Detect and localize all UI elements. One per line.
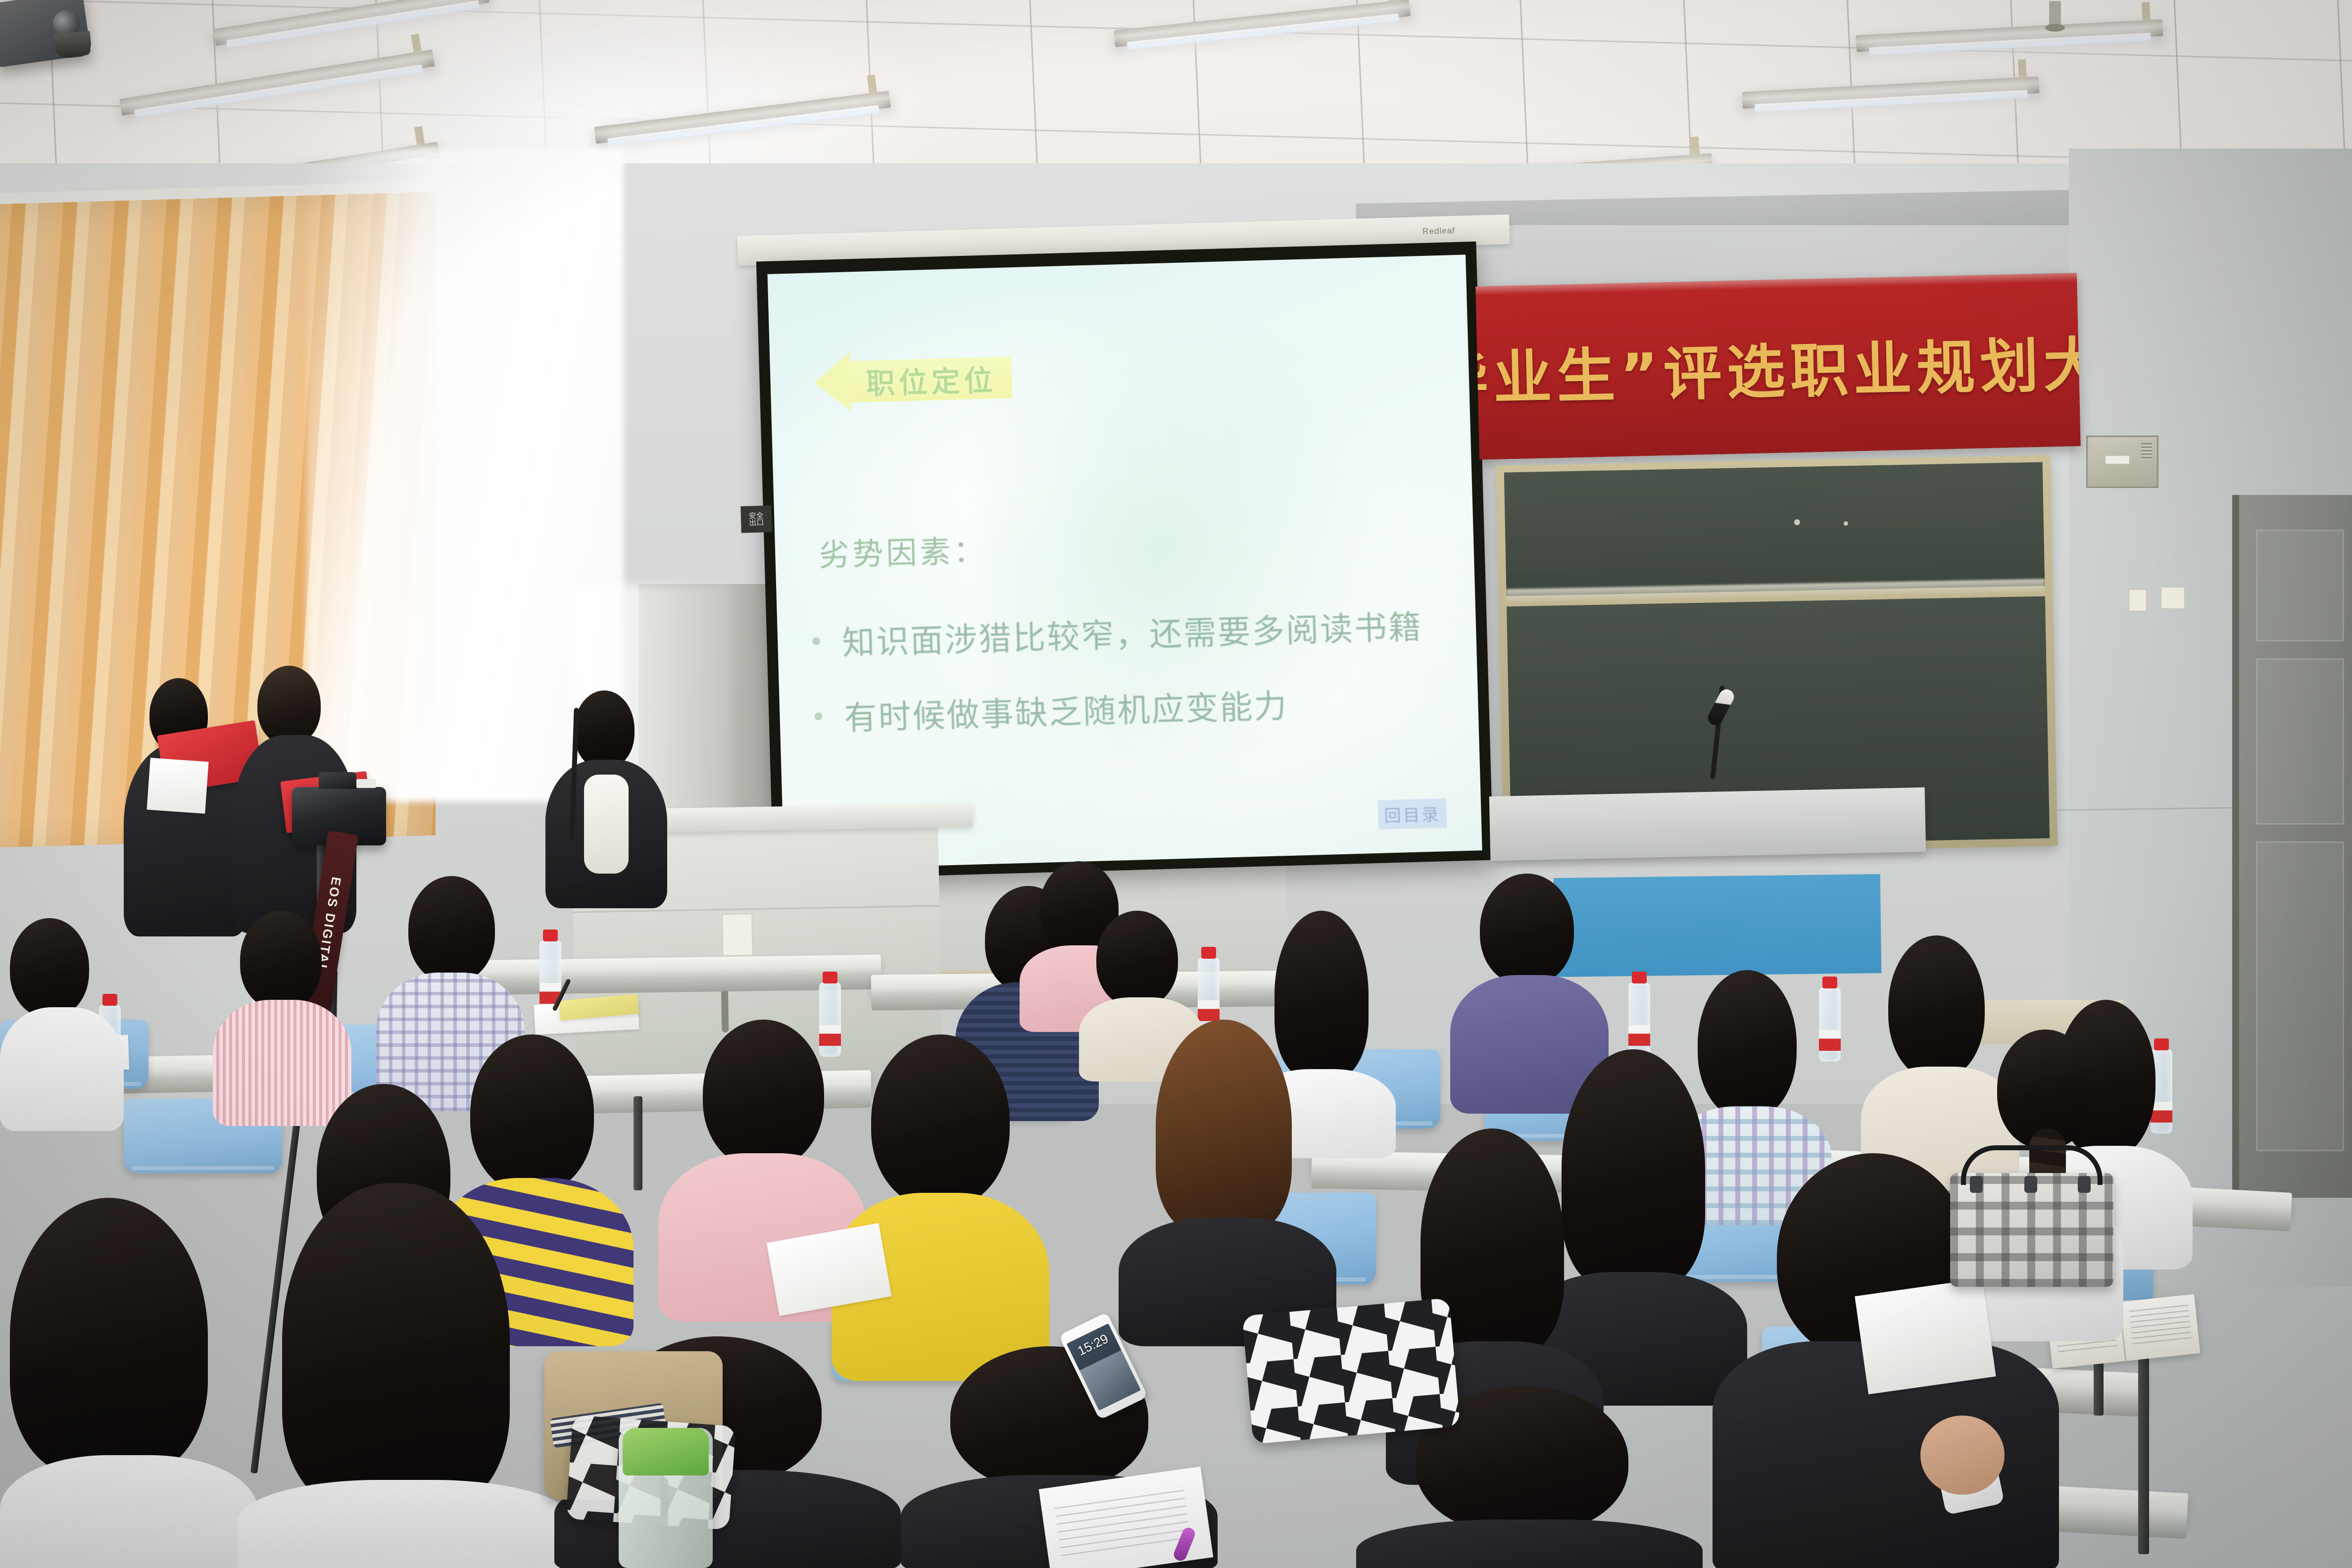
water-bottle[interactable] — [1628, 982, 1650, 1057]
geometric-backpack[interactable] — [1242, 1298, 1460, 1444]
door-panel — [2256, 658, 2344, 825]
slide-watermark-graphic — [979, 316, 1425, 828]
person-head — [871, 1034, 1010, 1208]
wall-outlet[interactable] — [2160, 587, 2185, 609]
person-head — [257, 666, 321, 745]
rear-exit-door[interactable] — [2232, 495, 2352, 1198]
slide-back-to-contents-button[interactable]: 回目录 — [1378, 798, 1447, 830]
plaid-handbag[interactable] — [1950, 1173, 2113, 1287]
projection-screen-frame: 职位定位 劣势因素： 知识面涉猎比较窄，还需要多阅读书籍 有时候做事缺乏随机应变… — [756, 242, 1493, 880]
person-torso — [0, 1455, 257, 1568]
person-head — [574, 690, 635, 769]
audience-member — [0, 918, 124, 1126]
audience-member — [1119, 1020, 1336, 1336]
notebook-lines — [1054, 1489, 1190, 1556]
stage-ledge — [1489, 787, 1926, 861]
event-banner-text: 佳毕业生”评选职业规划大赛 — [1475, 315, 2081, 418]
exit-sign-text: 安全出口 — [749, 512, 764, 526]
exit-sign-plaque: 安全出口 — [740, 505, 772, 533]
door-panel — [2256, 530, 2344, 641]
bottle-straw — [660, 1477, 668, 1552]
slide-lead-text: 劣势因素： — [818, 526, 987, 575]
book-text-lines — [2129, 1304, 2192, 1344]
slide-bullet-text: 知识面涉猎比较窄，还需要多阅读书籍 — [841, 600, 1423, 664]
person-head — [1156, 1020, 1292, 1232]
bullet-dot-icon — [812, 637, 820, 645]
host-script-paper — [147, 758, 208, 814]
camera-flash-icon — [356, 779, 376, 788]
person-head — [240, 911, 322, 1010]
electrical-box-label — [2106, 456, 2129, 464]
person-head — [10, 918, 89, 1017]
person-head — [282, 1183, 510, 1510]
blackboard-upper-panel — [1504, 462, 2045, 596]
green-sports-bottle[interactable] — [619, 1428, 713, 1568]
bottle-cap-icon — [623, 1428, 709, 1475]
bag-clasp-icon — [1970, 1176, 1983, 1193]
person-head — [703, 1020, 824, 1168]
audience-member — [238, 1183, 574, 1568]
slide-tag-body: 职位定位 — [850, 356, 1013, 402]
person-head — [1888, 935, 1985, 1079]
door-panel — [2256, 841, 2344, 1151]
arrow-left-icon — [813, 352, 851, 412]
light-switch[interactable] — [722, 913, 753, 956]
desk-paper — [1855, 1278, 1996, 1394]
person-torso — [1356, 1519, 1703, 1568]
slide-tag-label: 职位定位 — [865, 357, 997, 402]
presenter — [544, 690, 668, 903]
person-hand — [1920, 1416, 2005, 1495]
person-head — [10, 1198, 208, 1475]
camera-viewfinder-hump — [319, 772, 356, 789]
electrical-box — [2086, 436, 2158, 488]
audience-member — [832, 1034, 1049, 1371]
person-head — [408, 876, 495, 982]
person-torso — [0, 1007, 124, 1131]
bag-clasp-icon — [2024, 1176, 2037, 1193]
sprinkler-head-icon — [2049, 1, 2061, 28]
desk-leg — [634, 1096, 642, 1190]
bag-clasp-icon — [2078, 1176, 2091, 1193]
vent-icon — [2141, 443, 2152, 460]
presenter-inner-top — [584, 775, 629, 874]
slide-bullet-list: 知识面涉猎比较窄，还需要多阅读书籍 有时候做事缺乏随机应变能力 — [811, 572, 1459, 740]
screen-brand-label: Redleaf — [1422, 226, 1455, 237]
person-torso — [238, 1480, 574, 1568]
person-head — [1480, 874, 1574, 985]
classroom-photo: Redleaf 职位定位 劣势因素： 知识面涉猎比较窄，还需要多阅读书籍 有时候… — [0, 0, 2352, 1568]
audience-member — [0, 1198, 257, 1568]
bullet-dot-icon — [814, 712, 822, 720]
projection-screen: 职位定位 劣势因素： 知识面涉猎比较窄，还需要多阅读书籍 有时候做事缺乏随机应变… — [768, 255, 1482, 870]
slide-bullet-item: 知识面涉猎比较窄，还需要多阅读书籍 — [812, 599, 1457, 665]
slide-section-tag: 职位定位 — [813, 347, 1013, 412]
person-head — [1096, 911, 1178, 1007]
wall-outlet[interactable] — [2128, 589, 2147, 612]
event-banner: 佳毕业生”评选职业规划大赛 — [1475, 273, 2081, 459]
